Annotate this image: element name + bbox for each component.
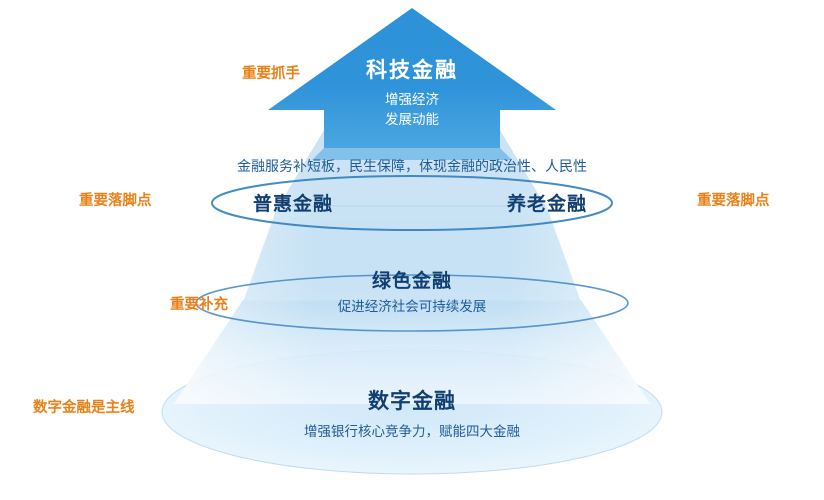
label-band-middle: 重要补充 bbox=[170, 293, 228, 314]
label-base: 数字金融是主线 bbox=[33, 396, 135, 417]
label-band-top-right: 重要落脚点 bbox=[697, 189, 770, 210]
item-green-finance: 绿色金融 bbox=[0, 266, 824, 293]
item-inclusive-finance: 普惠金融 bbox=[253, 189, 333, 216]
arrow-subtitle-line1: 增强经济 bbox=[0, 90, 824, 110]
arrow-title: 科技金融 bbox=[0, 54, 824, 84]
label-band-top-left: 重要落脚点 bbox=[79, 189, 152, 210]
diagram-canvas: 科技金融 增强经济 发展动能 重要抓手 金融服务补短板，民生保障，体现金融的政治… bbox=[0, 0, 824, 500]
item-pension-finance: 养老金融 bbox=[507, 189, 587, 216]
arrow-subtitle-line2: 发展动能 bbox=[0, 110, 824, 130]
green-finance-subtitle: 促进经济社会可持续发展 bbox=[0, 297, 824, 317]
band-top-caption: 金融服务补短板，民生保障，体现金融的政治性、人民性 bbox=[0, 156, 824, 176]
label-arrow-side: 重要抓手 bbox=[242, 62, 300, 83]
digital-finance-subtitle: 增强银行核心竞争力，赋能四大金融 bbox=[0, 422, 824, 442]
